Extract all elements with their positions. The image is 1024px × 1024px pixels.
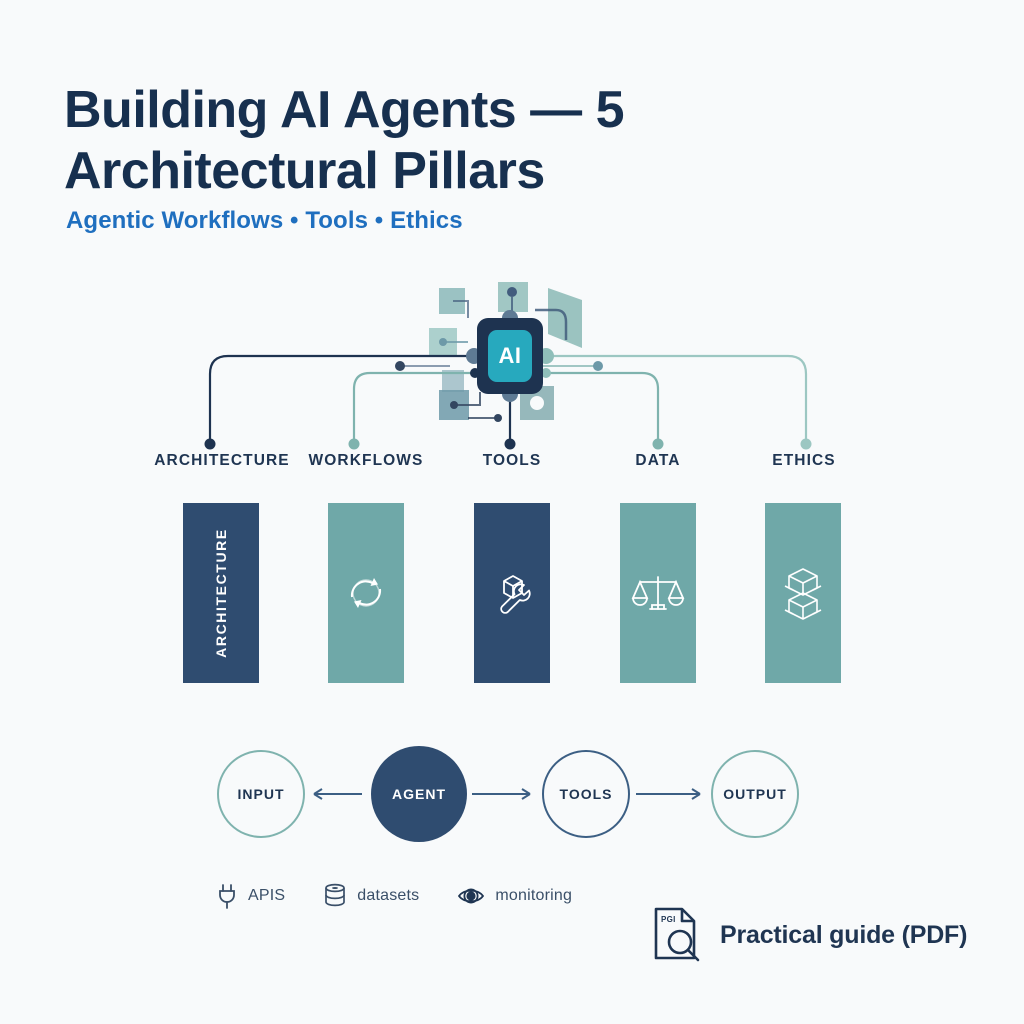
- category-label-architecture: ARCHITECTURE: [154, 452, 289, 470]
- balance-scales-icon: [630, 567, 686, 619]
- connector-dot-workflows: [349, 439, 360, 450]
- capability-icon-row: APIS datasets: [216, 876, 610, 916]
- hero-diagram: AI: [150, 270, 890, 480]
- category-label-ethics: ETHICS: [772, 452, 835, 470]
- pillar-row: ARCHITECTURE: [0, 503, 1024, 683]
- pillar-ethics[interactable]: [765, 503, 841, 683]
- flow-node-tools-label: TOOLS: [560, 786, 613, 802]
- capability-apis[interactable]: APIS: [216, 883, 285, 909]
- database-icon: [323, 883, 347, 909]
- connector-dot-tools: [505, 439, 516, 450]
- flow-node-output-label: OUTPUT: [723, 786, 787, 802]
- capability-monitoring[interactable]: monitoring: [457, 886, 572, 906]
- connector-dot-data: [653, 439, 664, 450]
- capability-apis-label: APIS: [248, 887, 285, 905]
- plug-icon: [216, 883, 238, 909]
- agent-flow-diagram: INPUT AGENT TOOLS OUTPUT: [0, 750, 1024, 850]
- capability-datasets-label: datasets: [357, 887, 419, 905]
- flow-node-input-label: INPUT: [238, 786, 285, 802]
- category-label-workflows: WORKFLOWS: [309, 452, 424, 470]
- connector-dot-ethics: [801, 439, 812, 450]
- pdf-badge[interactable]: PGI Practical guide (PDF): [652, 906, 967, 964]
- capability-datasets[interactable]: datasets: [323, 883, 419, 909]
- page-title: Building AI Agents — 5 Architectural Pil…: [64, 80, 784, 203]
- pillar-data[interactable]: [620, 503, 696, 683]
- stacked-cubes-icon: [777, 564, 829, 622]
- eye-icon: [457, 886, 485, 906]
- pdf-badge-label: Practical guide (PDF): [720, 921, 967, 950]
- cycle-arrows-icon: [340, 567, 392, 619]
- flow-arrows: [0, 750, 1024, 850]
- page-subtitle: Agentic Workflows • Tools • Ethics: [66, 207, 463, 235]
- pdf-tag-label: PGI: [661, 915, 676, 924]
- category-label-data: DATA: [635, 452, 680, 470]
- connector-dot-architecture: [205, 439, 216, 450]
- infographic-canvas: Building AI Agents — 5 Architectural Pil…: [0, 0, 1024, 1024]
- pillar-tools[interactable]: [474, 503, 550, 683]
- ai-chip-label: AI: [488, 330, 532, 382]
- pillar-architecture[interactable]: ARCHITECTURE: [183, 503, 259, 683]
- category-label-row: ARCHITECTURE WORKFLOWS TOOLS DATA ETHICS: [0, 452, 1024, 478]
- flow-node-tools[interactable]: TOOLS: [542, 750, 630, 838]
- category-label-tools: TOOLS: [483, 452, 542, 470]
- flow-node-agent[interactable]: AGENT: [371, 746, 467, 842]
- pillar-architecture-label: ARCHITECTURE: [213, 528, 229, 658]
- capability-monitoring-label: monitoring: [495, 887, 572, 905]
- pillar-workflows[interactable]: [328, 503, 404, 683]
- ai-chip: AI: [477, 318, 543, 394]
- document-search-icon: PGI: [652, 906, 704, 964]
- flow-node-input[interactable]: INPUT: [217, 750, 305, 838]
- wrench-box-icon: [484, 565, 540, 621]
- flow-node-agent-label: AGENT: [392, 786, 446, 802]
- flow-node-output[interactable]: OUTPUT: [711, 750, 799, 838]
